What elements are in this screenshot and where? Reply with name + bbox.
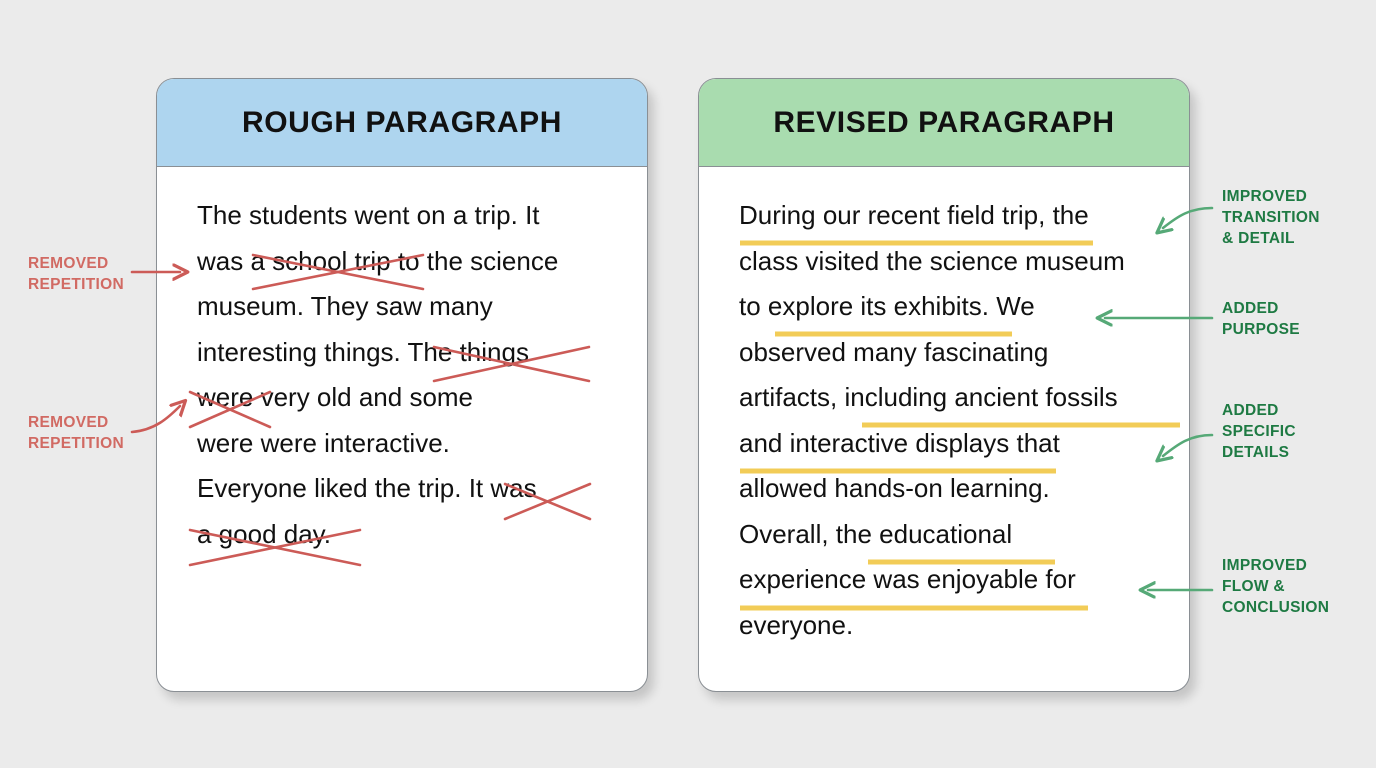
revised-line: experience was enjoyable for bbox=[739, 557, 1151, 603]
comparison-diagram: ROUGH PARAGRAPH The students went on a t… bbox=[0, 0, 1376, 768]
rough-paragraph-card: ROUGH PARAGRAPH The students went on a t… bbox=[156, 78, 648, 692]
rough-line: museum. They saw many bbox=[197, 284, 609, 330]
annotation-added-specific-details: ADDED SPECIFIC DETAILS bbox=[1222, 400, 1296, 463]
annotation-improved-flow-conclusion: IMPROVED FLOW & CONCLUSION bbox=[1222, 555, 1329, 618]
annotation-added-purpose: ADDED PURPOSE bbox=[1222, 298, 1300, 340]
revised-line: everyone. bbox=[739, 603, 1151, 649]
annotation-improved-transition-detail: IMPROVED TRANSITION & DETAIL bbox=[1222, 186, 1320, 249]
revised-paragraph-header: REVISED PARAGRAPH bbox=[699, 79, 1189, 167]
revised-line: allowed hands-on learning. bbox=[739, 466, 1151, 512]
rough-paragraph-body: The students went on a trip. It was a sc… bbox=[157, 167, 647, 557]
rough-line: were were interactive. bbox=[197, 421, 609, 467]
revised-paragraph-card: REVISED PARAGRAPH During our recent fiel… bbox=[698, 78, 1190, 692]
rough-line: interesting things. The things bbox=[197, 330, 609, 376]
revised-paragraph-body: During our recent field trip, the class … bbox=[699, 167, 1189, 648]
annotation-removed-repetition-2: REMOVED REPETITION bbox=[28, 412, 124, 454]
revised-line: to explore its exhibits. We bbox=[739, 284, 1151, 330]
rough-line: were very old and some bbox=[197, 375, 609, 421]
revised-line: class visited the science museum bbox=[739, 239, 1151, 285]
rough-line: The students went on a trip. It bbox=[197, 193, 609, 239]
rough-line: Everyone liked the trip. It was bbox=[197, 466, 609, 512]
revised-line: Overall, the educational bbox=[739, 512, 1151, 558]
rough-paragraph-title: ROUGH PARAGRAPH bbox=[242, 106, 562, 140]
rough-line: was a school trip to the science bbox=[197, 239, 609, 285]
revised-paragraph-title: REVISED PARAGRAPH bbox=[773, 106, 1114, 140]
revised-line: artifacts, including ancient fossils bbox=[739, 375, 1151, 421]
annotation-removed-repetition-1: REMOVED REPETITION bbox=[28, 253, 124, 295]
revised-line: observed many fascinating bbox=[739, 330, 1151, 376]
revised-line: During our recent field trip, the bbox=[739, 193, 1151, 239]
rough-line: a good day. bbox=[197, 512, 609, 558]
rough-paragraph-header: ROUGH PARAGRAPH bbox=[157, 79, 647, 167]
revised-line: and interactive displays that bbox=[739, 421, 1151, 467]
